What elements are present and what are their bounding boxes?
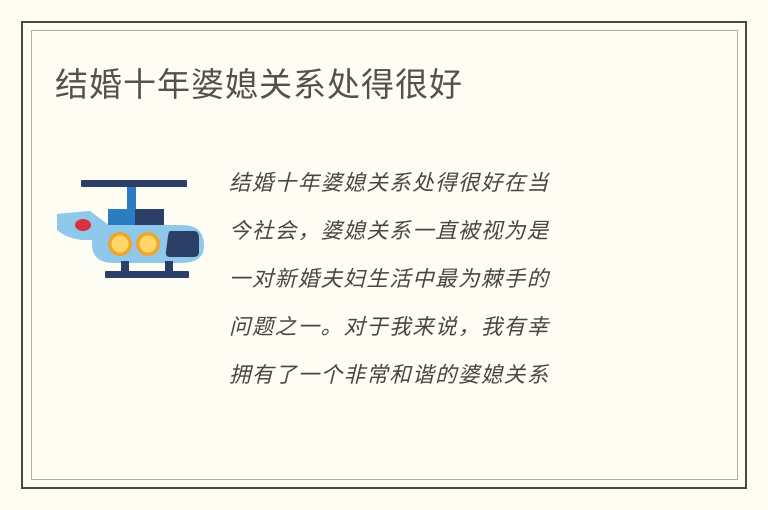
paragraph-line: 一对新婚夫妇生活中最为棘手的 xyxy=(229,256,671,304)
cockpit-window xyxy=(166,231,199,257)
skid-bar xyxy=(105,271,189,278)
helicopter-icon xyxy=(52,168,212,278)
paragraph-line: 问题之一。对于我来说，我有幸 xyxy=(229,304,671,352)
paragraph-line: 结婚十年婆媳关系处得很好在当 xyxy=(229,160,671,208)
rotor-blade xyxy=(81,180,187,187)
passenger-window-2-inner xyxy=(140,236,157,253)
article-body: 结婚十年婆媳关系处得很好在当 今社会，婆媳关系一直被视为是 一对新婚夫妇生活中最… xyxy=(0,160,768,420)
article-paragraph: 结婚十年婆媳关系处得很好在当 今社会，婆媳关系一直被视为是 一对新婚夫妇生活中最… xyxy=(229,160,671,400)
page-title: 结婚十年婆媳关系处得很好 xyxy=(55,64,463,106)
paragraph-line: 拥有了一个非常和谐的婆媳关系 xyxy=(229,352,671,400)
tail-light xyxy=(75,219,91,231)
rotor-mast xyxy=(127,187,136,209)
article-card: 结婚十年婆媳关系处得很好 xyxy=(0,0,768,510)
paragraph-line: 今社会，婆媳关系一直被视为是 xyxy=(229,208,671,256)
passenger-window-1-inner xyxy=(112,236,129,253)
